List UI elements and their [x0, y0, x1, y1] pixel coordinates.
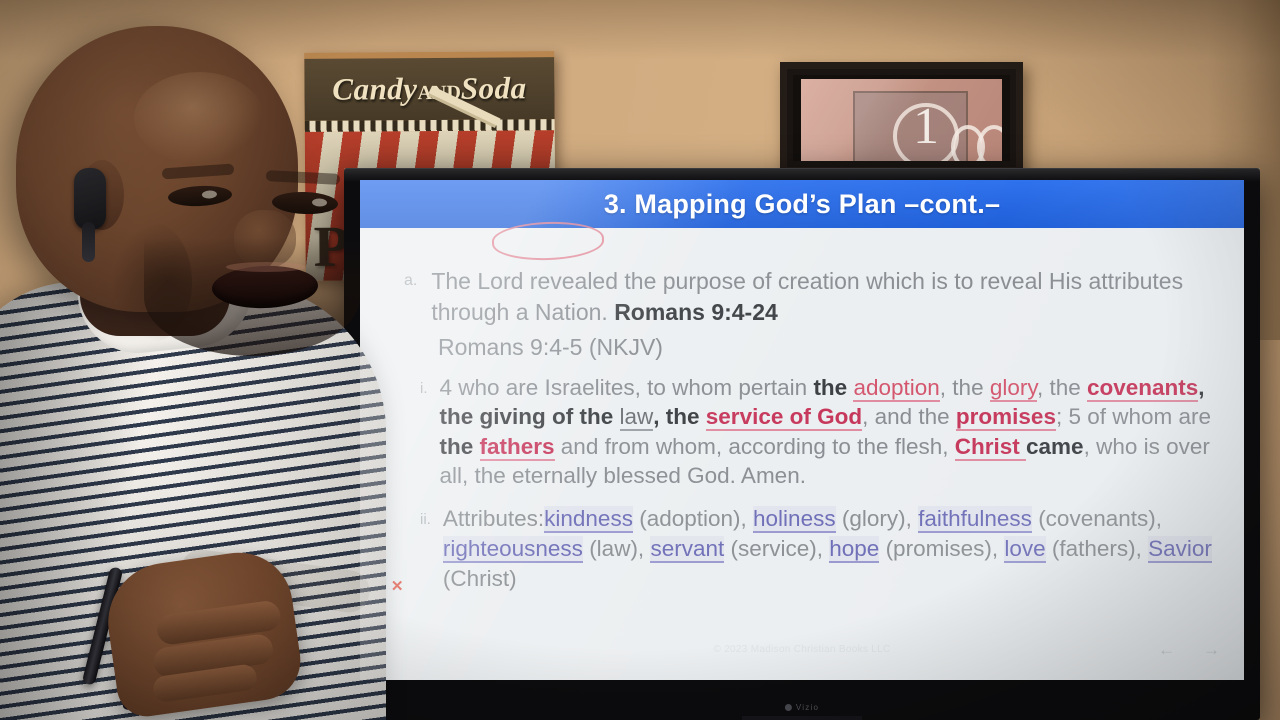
slide-title: 3. Mapping God’s Plan –cont.–: [604, 189, 1000, 220]
scripture-segment: , the: [653, 404, 706, 429]
attribute-word: servant: [650, 536, 724, 563]
point-a-reference: Romans 9:4-24: [614, 299, 778, 325]
tv-screen[interactable]: 3. Mapping God’s Plan –cont.– a. The Lor…: [360, 180, 1244, 680]
tv-stand: [742, 716, 862, 720]
earbud-icon: [74, 168, 106, 230]
attribute-word: kindness: [544, 506, 633, 533]
scripture-segment: ; 5 of whom are: [1056, 404, 1211, 429]
attribute-source: (glory),: [836, 506, 919, 531]
eye-right: [272, 191, 339, 215]
attribute-source: (law),: [583, 536, 651, 561]
slide-header-bar: 3. Mapping God’s Plan –cont.–: [360, 180, 1244, 228]
upper-lip-highlight: [226, 262, 306, 272]
frame-glass-glare: [801, 79, 1002, 161]
television: 3. Mapping God’s Plan –cont.– a. The Lor…: [344, 168, 1260, 720]
attribute-source: (Christ): [443, 566, 517, 591]
eye-left: [168, 184, 233, 207]
point-a-text: The Lord revealed the purpose of creatio…: [431, 266, 1222, 327]
scripture-segment: , the: [1037, 375, 1087, 400]
scripture-segment: law: [620, 404, 654, 431]
attribute-word: Savior: [1148, 536, 1212, 563]
forehead-highlight: [134, 72, 264, 164]
frame-artwork: 1: [801, 79, 1002, 161]
attribute-source: (fathers),: [1046, 536, 1149, 561]
bullet-marker-a: a.: [404, 266, 417, 293]
scripture-segment: came: [1026, 434, 1084, 459]
attribute-word: faithfulness: [918, 506, 1032, 533]
presenter: [0, 0, 400, 720]
tv-logo-dot-icon: [785, 704, 792, 711]
scripture-segment: fathers: [480, 434, 555, 461]
scripture-segment: Christ: [955, 434, 1026, 461]
next-slide-button[interactable]: →: [1203, 641, 1220, 658]
bullet-marker-i: i.: [420, 373, 428, 399]
tv-brand-logo: Vizio: [785, 703, 819, 712]
attributes-text: ■ ✕ Attributes:kindness (adoption), holi…: [443, 504, 1222, 593]
head: [16, 26, 298, 312]
attribute-word: righteousness: [443, 536, 583, 563]
slide-point-i: i. 4 who are Israelites, to whom pertain…: [420, 373, 1222, 490]
screenshot-stage: CandyANDSoda P 1 3. Mapping God’s Plan –…: [0, 0, 1280, 720]
bullet-marker-ii: ii.: [420, 504, 431, 530]
attribute-word: holiness: [753, 506, 836, 533]
attribute-word: hope: [829, 536, 879, 563]
attribute-source: (adoption),: [633, 506, 753, 531]
earbud-stem: [82, 222, 95, 262]
point-a-subreference: Romans 9:4-5 (NKJV): [438, 334, 1222, 361]
scripture-text: 4 who are Israelites, to whom pertain th…: [440, 373, 1223, 490]
copyright-notice: © 2023 Madison Christian Books LLC: [713, 644, 890, 655]
eyebrow-left: [162, 164, 235, 180]
framed-clock-art: 1: [780, 62, 1023, 174]
slide-point-ii: ii. ■ ✕ Attributes:kindness (adoption), …: [420, 504, 1222, 593]
eyebrow-right: [266, 170, 340, 185]
attribute-source: (covenants),: [1032, 506, 1162, 531]
scripture-segment: the: [440, 434, 480, 459]
slide-point-a: a. The Lord revealed the purpose of crea…: [404, 266, 1222, 327]
prev-slide-button[interactable]: ←: [1158, 641, 1175, 658]
scripture-segment: the: [813, 375, 853, 400]
attribute-source: (service),: [724, 536, 829, 561]
slide-body: a. The Lord revealed the purpose of crea…: [360, 228, 1244, 593]
slide-footer: © 2023 Madison Christian Books LLC ← →: [360, 618, 1244, 680]
scripture-segment: , the: [940, 375, 990, 400]
sign-word-soda: Soda: [461, 70, 527, 105]
scripture-segment: promises: [956, 404, 1056, 431]
scripture-segment: , and the: [862, 404, 956, 429]
point-a-body: The Lord revealed the purpose of creatio…: [431, 268, 1183, 325]
scripture-segment: glory: [990, 375, 1037, 402]
attribute-source: (promises),: [879, 536, 1004, 561]
slide-navigation: ← →: [1158, 641, 1220, 658]
scripture-segment: adoption: [853, 375, 939, 402]
attributes-label: Attributes:: [443, 506, 544, 531]
scripture-segment: covenants: [1087, 375, 1198, 402]
scripture-segment: and from whom, according to the flesh,: [555, 434, 955, 459]
scripture-segment: service of God: [706, 404, 862, 431]
scripture-segment: 4 who are Israelites, to whom pertain: [440, 375, 814, 400]
tv-brand-label: Vizio: [796, 703, 819, 712]
attribute-word: love: [1004, 536, 1045, 563]
